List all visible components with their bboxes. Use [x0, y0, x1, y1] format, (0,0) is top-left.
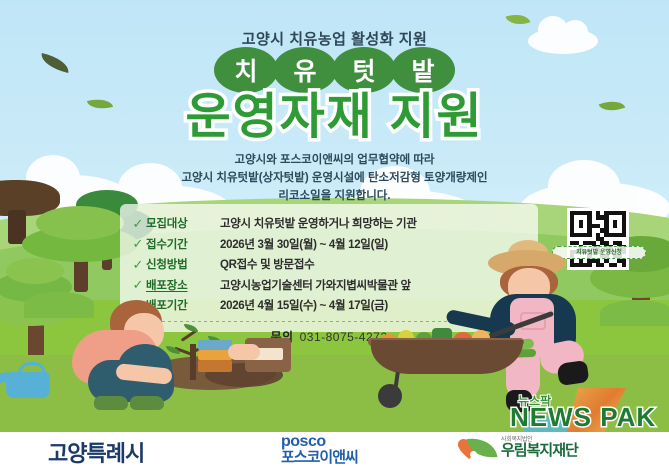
logo-goyang: 고양특례시	[48, 436, 144, 466]
subtitle-line-3: 리코소일을 지원합니다.	[0, 188, 669, 206]
poster-subtitle: 고양시와 포스코이앤씨의 업무협약에 따라 고양시 치유텃밭(상자텃밭) 운영시…	[0, 152, 669, 205]
posco-korean: 포스코이앤씨	[281, 450, 358, 466]
bush-illustration	[600, 300, 669, 326]
info-label: 접수기간	[146, 236, 220, 252]
pill-char-2: 유	[273, 47, 337, 93]
subtitle-line-2: 고양시 치유텃밭(상자텃밭) 운영시설에 탄소저감형 토양개량제인	[0, 170, 669, 188]
posco-english: posco	[281, 434, 358, 450]
poster-kicker: 고양시 치유농업 활성화 지원	[0, 28, 669, 49]
heart-leaf-icon	[458, 435, 496, 461]
pill-char-1: 치	[214, 47, 278, 93]
info-label: 모집대상	[146, 215, 220, 231]
info-label: 신청방법	[146, 256, 220, 272]
person-planting-illustration	[58, 300, 208, 415]
woorim-text: 사회복지법인 우림복지재단	[501, 437, 578, 459]
logo-woorim: 사회복지법인 우림복지재단	[458, 435, 578, 461]
watering-can-illustration	[6, 372, 50, 398]
info-value: 2026년 3월 30일(월) ~ 4월 12일(일)	[220, 236, 388, 252]
poster-root: 고양시 치유농업 활성화 지원 치 유 텃 밭 운영자재 지원 고양시와 포스코…	[0, 0, 669, 466]
watermark: 뉴스팍 NEWS PAK	[506, 392, 666, 432]
info-row: ✓ 모집대상 고양시 치유텃밭 운영하거나 희망하는 기관	[130, 213, 528, 234]
subtitle-line-1: 고양시와 포스코이앤씨의 업무협약에 따라	[0, 152, 669, 170]
logo-bar: 고양특례시 posco 포스코이앤씨 사회복지법인 우림복지재단	[0, 432, 669, 466]
check-icon: ✓	[130, 217, 146, 230]
check-icon: ✓	[130, 237, 146, 250]
info-value: 2026년 4월 15일(수) ~ 4월 17일(금)	[220, 297, 388, 313]
info-value: QR접수 및 방문접수	[220, 256, 314, 272]
info-label: 배포장소	[146, 277, 220, 293]
watermark-english: NEWS PAK	[510, 402, 656, 433]
check-icon: ✓	[130, 258, 146, 271]
info-value: 고양시 치유텃밭 운영하거나 희망하는 기관	[220, 215, 417, 231]
info-value: 고양시농업기술센터 가와지볍씨박물관 앞	[220, 277, 411, 293]
pill-char-3: 텃	[332, 47, 396, 93]
logo-posco: posco 포스코이앤씨	[281, 434, 358, 466]
woorim-title: 우림복지재단	[501, 443, 578, 459]
pill-title-row: 치 유 텃 밭	[0, 47, 669, 93]
hand-illustration	[228, 344, 260, 360]
pill-char-4: 밭	[391, 47, 455, 93]
check-icon: ✓	[130, 278, 146, 291]
